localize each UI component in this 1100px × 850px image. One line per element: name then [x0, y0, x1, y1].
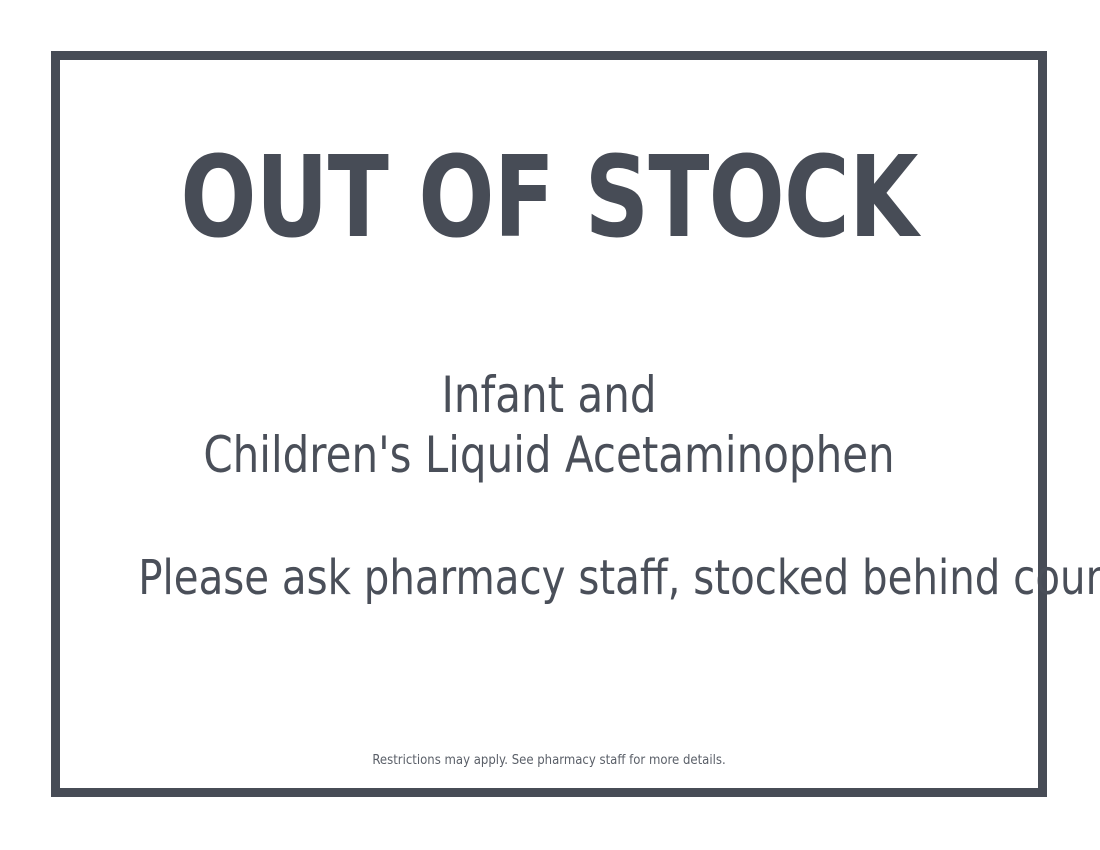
product-name-line-2: Children's Liquid Acetaminophen — [138, 425, 960, 485]
availability-notice: Please ask pharmacy staff, stocked behin… — [138, 550, 960, 606]
sign-content-area: OUT OF STOCK Infant and Children's Liqui… — [60, 60, 1038, 788]
page-title: OUT OF STOCK — [158, 142, 940, 254]
fineprint-disclaimer: Restrictions may apply. See pharmacy sta… — [109, 752, 989, 770]
product-name-line-1: Infant and — [138, 365, 960, 425]
product-name-block: Infant and Children's Liquid Acetaminoph… — [60, 365, 1038, 485]
sign-canvas: OUT OF STOCK Infant and Children's Liqui… — [0, 0, 1100, 850]
